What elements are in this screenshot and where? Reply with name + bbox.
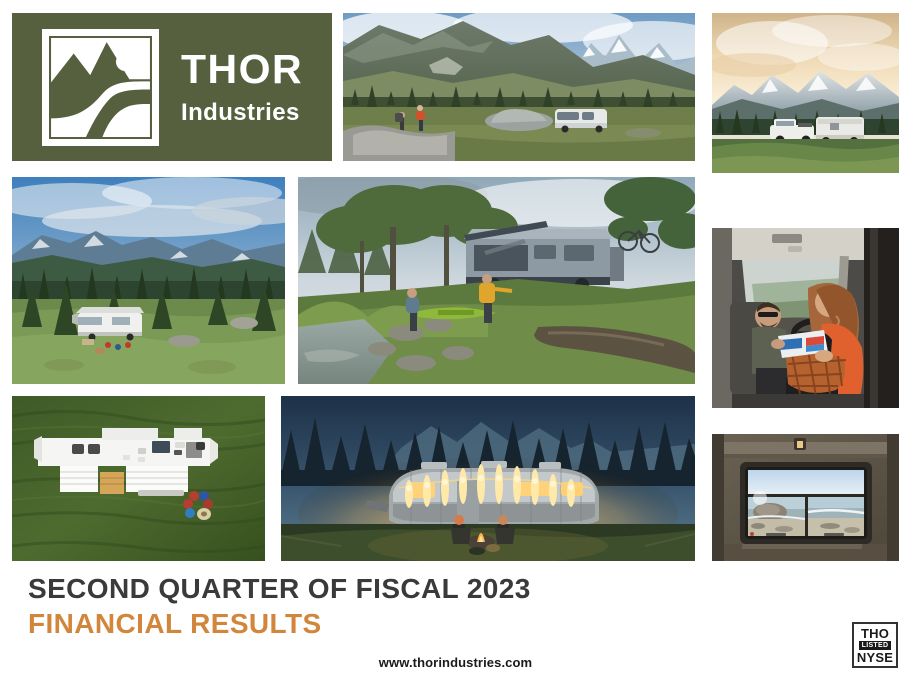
mountain-road-logo-icon <box>42 29 159 146</box>
photo-mountain-valley-van <box>343 13 695 161</box>
photo-airstream-night <box>281 396 695 561</box>
logo-name-secondary: Industries <box>181 101 303 125</box>
slide-title-line-2: FINANCIAL RESULTS <box>28 608 322 640</box>
photo-aerial-fifth-wheel <box>12 396 265 561</box>
photo-river-kayak-camp <box>298 177 695 384</box>
logo-name-primary: THOR <box>181 49 303 90</box>
photo-meadow-travel-trailer <box>12 177 285 384</box>
presentation-title-slide: THOR Industries <box>0 0 911 683</box>
nyse-listed-label: LISTED <box>859 641 892 650</box>
logo-wordmark: THOR Industries <box>181 49 303 125</box>
slide-title-line-1: SECOND QUARTER OF FISCAL 2023 <box>28 573 531 605</box>
nyse-listed-badge: THO LISTED NYSE <box>852 622 898 668</box>
company-website-url[interactable]: www.thorindustries.com <box>0 655 911 670</box>
photo-rv-window-beach <box>712 434 899 561</box>
nyse-exchange-name: NYSE <box>857 651 893 664</box>
nyse-ticker-symbol: THO <box>861 627 889 640</box>
photo-couple-in-cab <box>712 228 899 408</box>
thor-industries-logo-block: THOR Industries <box>12 13 332 161</box>
photo-sunset-truck-trailer <box>712 13 899 173</box>
